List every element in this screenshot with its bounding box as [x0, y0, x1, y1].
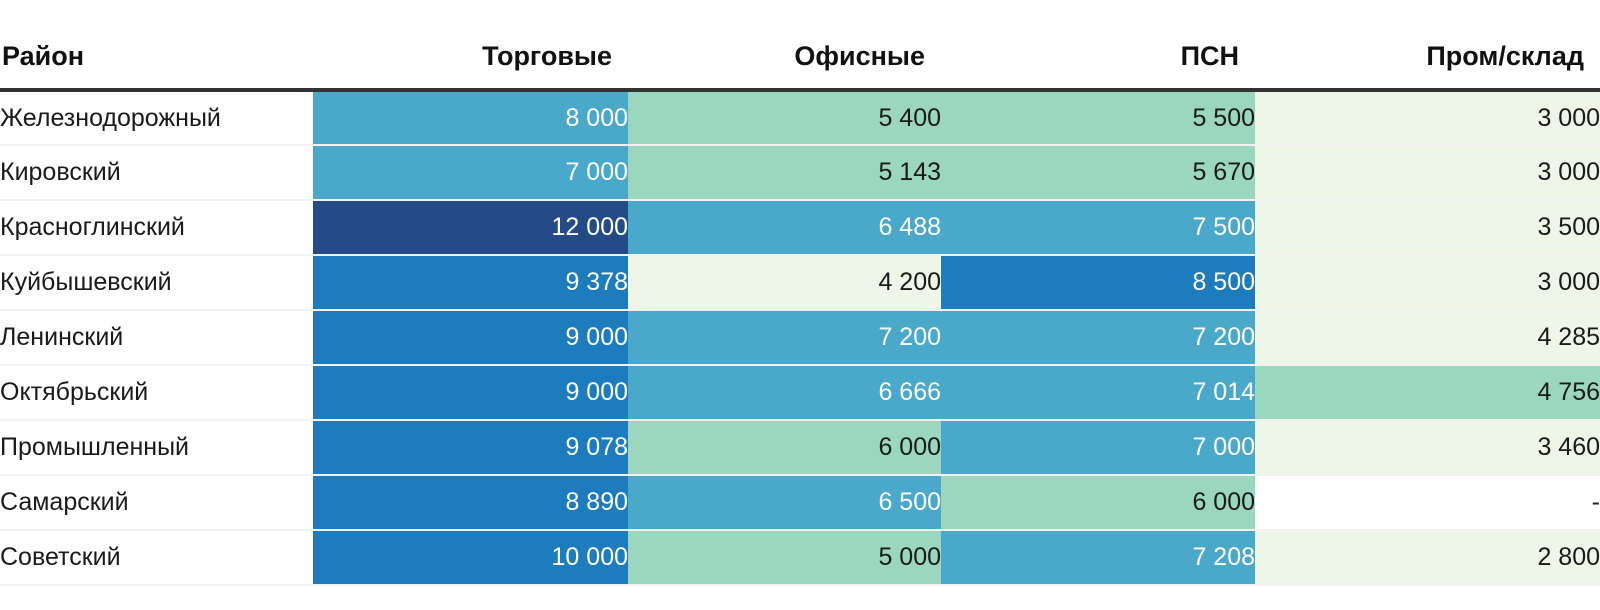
- heatmap-cell-office: 6 000: [628, 420, 941, 475]
- table-row: Красноглинский12 0006 4887 5003 500: [0, 200, 1600, 255]
- heatmap-cell-office: 6 500: [628, 475, 941, 530]
- region-label: Красноглинский: [0, 200, 313, 255]
- region-label: Куйбышевский: [0, 255, 313, 310]
- region-label: Самарский: [0, 475, 313, 530]
- heatmap-cell-indus: 3 000: [1255, 90, 1600, 145]
- heatmap-cell-psn: 7 014: [941, 365, 1255, 420]
- table-row: Куйбышевский9 3784 2008 5003 000: [0, 255, 1600, 310]
- heatmap-cell-indus: 2 800: [1255, 530, 1600, 585]
- heatmap-cell-psn: 7 000: [941, 420, 1255, 475]
- table-row: Советский10 0005 0007 2082 800: [0, 530, 1600, 585]
- region-label: Железнодорожный: [0, 90, 313, 145]
- heatmap-cell-indus: 4 285: [1255, 310, 1600, 365]
- table-body: Железнодорожный8 0005 4005 5003 000Киров…: [0, 90, 1600, 585]
- heatmap-cell-retail: 7 000: [313, 145, 628, 200]
- heatmap-cell-indus: 3 500: [1255, 200, 1600, 255]
- heatmap-cell-indus: 3 460: [1255, 420, 1600, 475]
- table-header: Район Торговые Офисные ПСН Пром/склад: [0, 0, 1600, 90]
- heatmap-cell-retail: 8 890: [313, 475, 628, 530]
- district-rent-heatmap-table: Район Торговые Офисные ПСН Пром/склад Же…: [0, 0, 1600, 586]
- heatmap-cell-office: 4 200: [628, 255, 941, 310]
- header-row: Район Торговые Офисные ПСН Пром/склад: [0, 0, 1600, 90]
- heatmap-cell-office: 5 000: [628, 530, 941, 585]
- heatmap-cell-indus: 4 756: [1255, 365, 1600, 420]
- column-header-industrial[interactable]: Пром/склад: [1255, 0, 1600, 90]
- heatmap-cell-psn: 7 208: [941, 530, 1255, 585]
- heatmap-cell-retail: 9 000: [313, 310, 628, 365]
- region-label: Кировский: [0, 145, 313, 200]
- column-header-region[interactable]: Район: [0, 0, 313, 90]
- heatmap-cell-office: 5 143: [628, 145, 941, 200]
- region-label: Промышленный: [0, 420, 313, 475]
- table-row: Кировский7 0005 1435 6703 000: [0, 145, 1600, 200]
- table-row: Ленинский9 0007 2007 2004 285: [0, 310, 1600, 365]
- column-header-office[interactable]: Офисные: [628, 0, 941, 90]
- table-row: Железнодорожный8 0005 4005 5003 000: [0, 90, 1600, 145]
- column-header-psn[interactable]: ПСН: [941, 0, 1255, 90]
- heatmap-cell-retail: 9 378: [313, 255, 628, 310]
- heatmap-cell-indus: 3 000: [1255, 145, 1600, 200]
- table-row: Октябрьский9 0006 6667 0144 756: [0, 365, 1600, 420]
- table-row: Промышленный9 0786 0007 0003 460: [0, 420, 1600, 475]
- heatmap-cell-office: 7 200: [628, 310, 941, 365]
- heatmap-cell-psn: 5 670: [941, 145, 1255, 200]
- heatmap-cell-psn: 7 200: [941, 310, 1255, 365]
- heatmap-cell-psn: 7 500: [941, 200, 1255, 255]
- heatmap-cell-retail: 9 000: [313, 365, 628, 420]
- heatmap-cell-psn: 8 500: [941, 255, 1255, 310]
- heatmap-cell-psn: 5 500: [941, 90, 1255, 145]
- region-label: Октябрьский: [0, 365, 313, 420]
- region-label: Советский: [0, 530, 313, 585]
- column-header-retail[interactable]: Торговые: [313, 0, 628, 90]
- heatmap-cell-retail: 9 078: [313, 420, 628, 475]
- heatmap-cell-office: 5 400: [628, 90, 941, 145]
- heatmap-cell-retail: 8 000: [313, 90, 628, 145]
- heatmap-cell-indus: 3 000: [1255, 255, 1600, 310]
- heatmap-cell-retail: 12 000: [313, 200, 628, 255]
- table-row: Самарский8 8906 5006 000-: [0, 475, 1600, 530]
- heatmap-cell-retail: 10 000: [313, 530, 628, 585]
- region-label: Ленинский: [0, 310, 313, 365]
- heatmap-cell-office: 6 666: [628, 365, 941, 420]
- heatmap-cell-office: 6 488: [628, 200, 941, 255]
- heatmap-cell-psn: 6 000: [941, 475, 1255, 530]
- heatmap-cell-indus: -: [1255, 475, 1600, 530]
